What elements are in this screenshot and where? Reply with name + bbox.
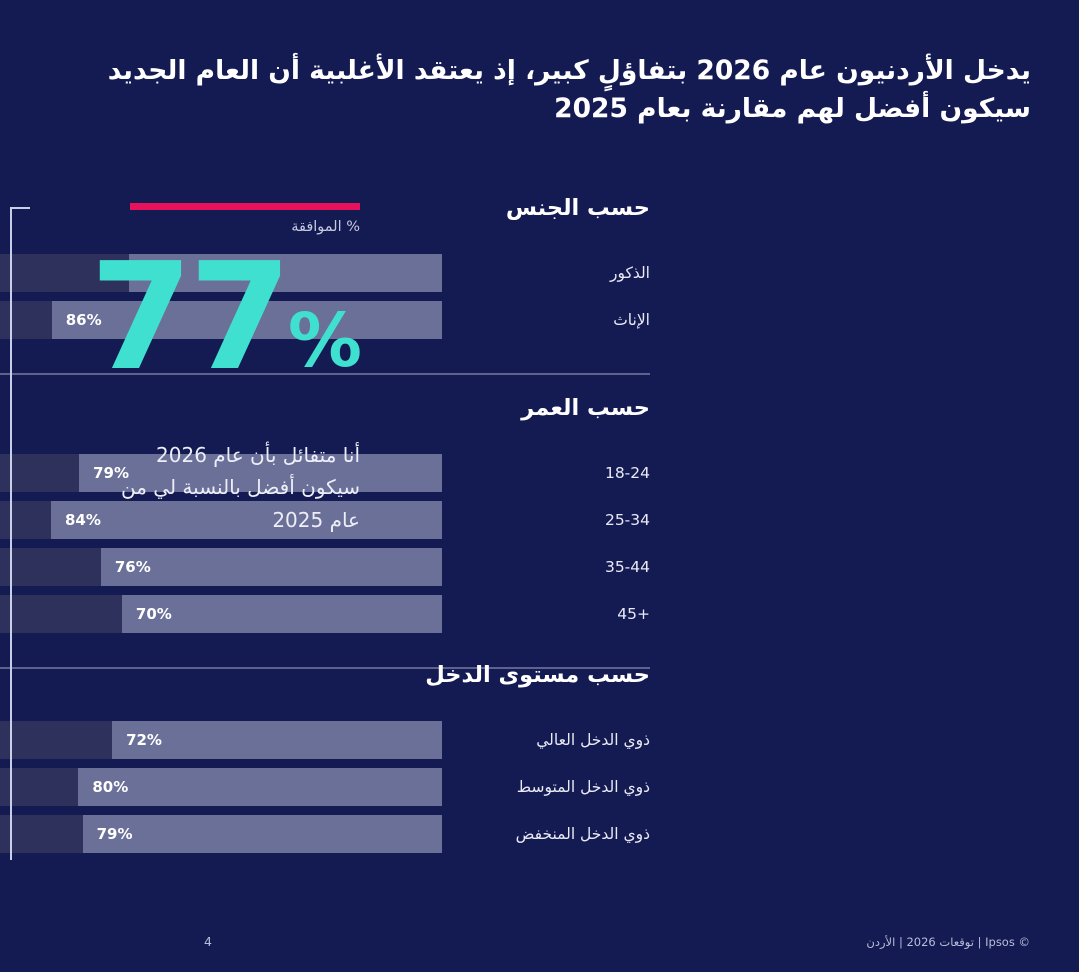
- hero-value: 77%: [0, 243, 360, 391]
- hero-number: 77: [90, 231, 288, 403]
- hero-description: أنا متفائل بأن عام 2026 سيكون أفضل بالنس…: [98, 439, 360, 536]
- bar-category-label: 18-24: [442, 454, 650, 492]
- bar-category-label: الإناث: [442, 301, 650, 339]
- hero-stat-panel: % الموافقة 77% أنا متفائل بأن عام 2026 س…: [0, 195, 409, 875]
- page-title: يدخل الأردنيون عام 2026 بتفاؤلٍ كبير، إذ…: [47, 52, 1031, 127]
- bar-category-label: ذوي الدخل المنخفض: [442, 815, 650, 853]
- bar-category-label: الذكور: [442, 254, 650, 292]
- footer-attribution: © Ipsos | توقعات 2026 | الأردن: [866, 935, 1030, 949]
- hero-percent-sign: %: [288, 298, 360, 384]
- bar-category-label: ذوي الدخل العالي: [442, 721, 650, 759]
- bar-category-label: ذوي الدخل المتوسط: [442, 768, 650, 806]
- page-number: 4: [204, 934, 212, 949]
- bar-category-label: 35-44: [442, 548, 650, 586]
- bar-category-label: +45: [442, 595, 650, 633]
- bar-category-label: 25-34: [442, 501, 650, 539]
